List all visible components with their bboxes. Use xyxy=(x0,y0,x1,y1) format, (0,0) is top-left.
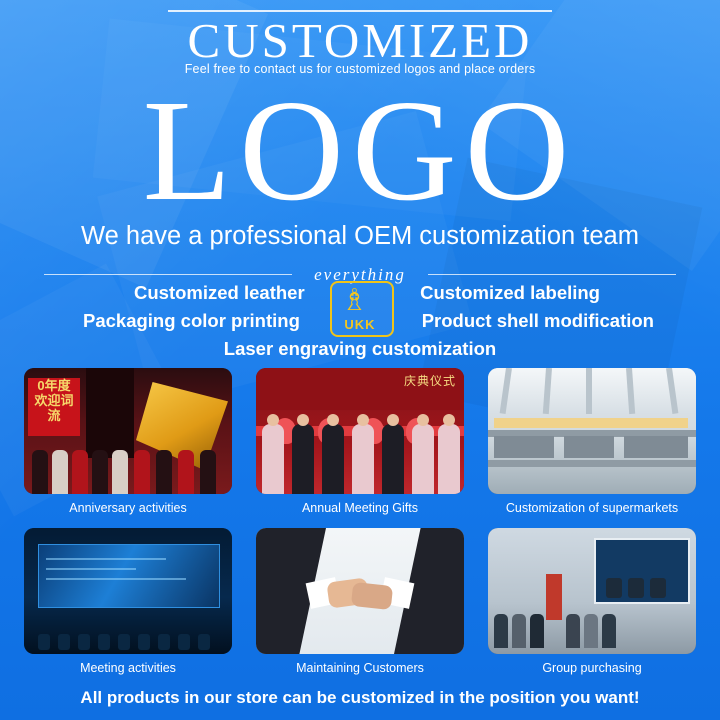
footer-text: All products in our store can be customi… xyxy=(0,688,720,708)
gallery-caption: Group purchasing xyxy=(488,660,696,676)
thumbnail-expo-booth[interactable] xyxy=(488,528,696,654)
gallery-item-annual-meeting-gifts[interactable]: 庆典仪式 Annual Meet xyxy=(256,368,464,516)
gallery-caption: Meeting activities xyxy=(24,660,232,676)
promo-banner: CUSTOMIZED Feel free to contact us for c… xyxy=(0,0,720,720)
feature-customized-labeling: Customized labeling xyxy=(420,282,600,304)
emblem-label: UKK xyxy=(325,317,395,332)
gallery-item-customization-of-supermarkets[interactable]: Customization of supermarkets xyxy=(488,368,696,516)
thumbnail-shopping-mall[interactable] xyxy=(488,368,696,494)
top-divider xyxy=(168,10,552,12)
gallery-grid: 0年度欢迎词流 Ann xyxy=(24,368,696,676)
tagline: We have a professional OEM customization… xyxy=(0,222,720,251)
gallery-item-group-purchasing[interactable]: Group purchasing xyxy=(488,528,696,676)
logo-wordmark: LOGO xyxy=(0,76,720,226)
feature-product-shell-modification: Product shell modification xyxy=(422,310,654,332)
thumbnail-handshake[interactable] xyxy=(256,528,464,654)
horse-icon: ♗ xyxy=(341,286,368,316)
gallery-caption: Customization of supermarkets xyxy=(488,500,696,516)
gallery-caption: Annual Meeting Gifts xyxy=(256,500,464,516)
gallery-item-maintaining-customers[interactable]: Maintaining Customers xyxy=(256,528,464,676)
thumbnail-led-conference[interactable] xyxy=(24,528,232,654)
gallery-caption: Maintaining Customers xyxy=(256,660,464,676)
gallery-row: Meeting activities Maintaining Customers xyxy=(24,528,696,676)
thumbnail-ribbon-cutting[interactable]: 庆典仪式 xyxy=(256,368,464,494)
thumbnail-award-ceremony[interactable]: 0年度欢迎词流 xyxy=(24,368,232,494)
gallery-item-anniversary-activities[interactable]: 0年度欢迎词流 Ann xyxy=(24,368,232,516)
brand-emblem: ♗ UKK xyxy=(325,281,395,343)
gallery-caption: Anniversary activities xyxy=(24,500,232,516)
page-title: CUSTOMIZED xyxy=(0,14,720,68)
feature-customized-leather: Customized leather xyxy=(134,282,305,304)
feature-packaging-color-printing: Packaging color printing xyxy=(83,310,300,332)
gallery-row: 0年度欢迎词流 Ann xyxy=(24,368,696,516)
gallery-item-meeting-activities[interactable]: Meeting activities xyxy=(24,528,232,676)
